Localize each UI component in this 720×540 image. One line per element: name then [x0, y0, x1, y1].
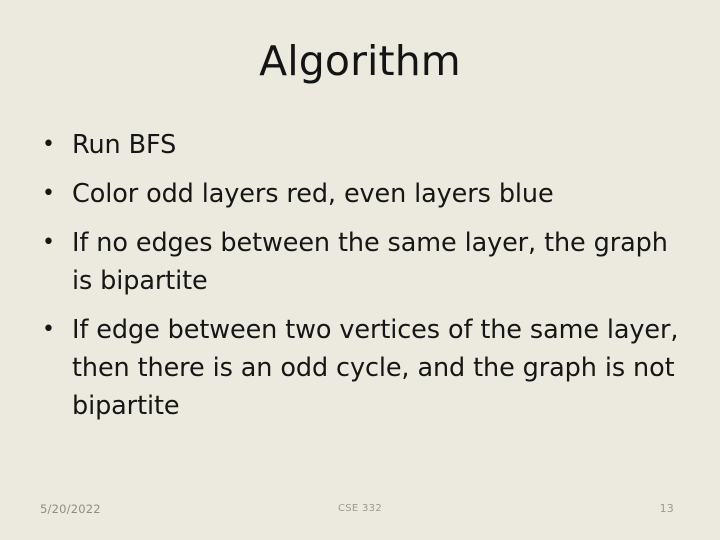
list-item: • Run BFS	[36, 126, 684, 164]
bullet-icon: •	[42, 175, 56, 213]
bullet-icon: •	[42, 311, 56, 349]
bullet-icon: •	[42, 224, 56, 262]
page-title: Algorithm	[0, 38, 720, 85]
slide: Algorithm • Run BFS • Color odd layers r…	[0, 0, 720, 540]
bullet-list: • Run BFS • Color odd layers red, even l…	[36, 126, 684, 425]
list-item-label: If edge between two vertices of the same…	[72, 311, 684, 425]
footer-page-number: 13	[660, 502, 674, 515]
list-item: • If no edges between the same layer, th…	[36, 224, 684, 300]
list-item-label: Color odd layers red, even layers blue	[72, 175, 684, 213]
list-item: • Color odd layers red, even layers blue	[36, 175, 684, 213]
bullet-icon: •	[42, 126, 56, 164]
list-item-label: If no edges between the same layer, the …	[72, 224, 684, 300]
list-item: • If edge between two vertices of the sa…	[36, 311, 684, 425]
slide-footer: 5/20/2022 CSE 332 13	[0, 494, 720, 540]
list-item-label: Run BFS	[72, 126, 684, 164]
footer-course-label: CSE 332	[0, 503, 720, 514]
